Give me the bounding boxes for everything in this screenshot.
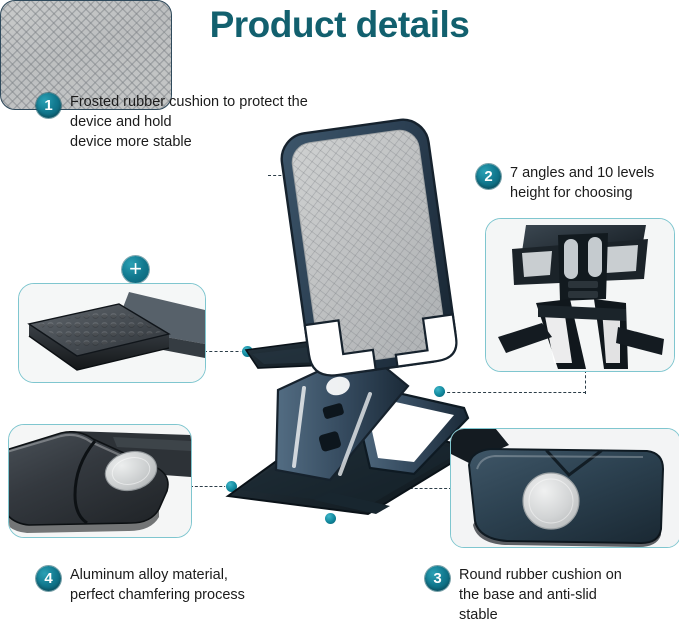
callout-badge-2: 2 [476, 164, 501, 189]
callout-badge-3: 3 [425, 566, 450, 591]
callout-badge-4: 4 [36, 566, 61, 591]
callout-2: 2 7 angles and 10 levels height for choo… [476, 163, 654, 203]
callout-text-4: Aluminum alloy material, perfect chamfer… [70, 565, 245, 605]
callout-text-3: Round rubber cushion on the base and ant… [459, 565, 622, 625]
product-details-infographic: Product details [0, 0, 679, 626]
page-title: Product details [0, 4, 679, 46]
connector-line-hinge-v [585, 370, 586, 394]
callout-1: 1 Frosted rubber cushion to protect the … [36, 92, 338, 152]
connector-line-hinge-h [519, 392, 586, 393]
callout-text-1: Frosted rubber cushion to protect the de… [70, 92, 338, 152]
product-illustration [218, 118, 488, 518]
panel-hinge-ratchet [485, 218, 675, 372]
callout-3: 3 Round rubber cushion on the base and a… [425, 565, 622, 625]
callout-4: 4 Aluminum alloy material, perfect chamf… [36, 565, 245, 605]
panel-chamfered-edge [8, 424, 192, 538]
callout-badge-1: 1 [36, 93, 61, 118]
panel-rubber-pad [18, 283, 206, 383]
callout-text-2: 7 angles and 10 levels height for choosi… [510, 163, 654, 203]
panel-round-rubber-foot [450, 428, 679, 548]
plus-icon: + [122, 256, 149, 283]
